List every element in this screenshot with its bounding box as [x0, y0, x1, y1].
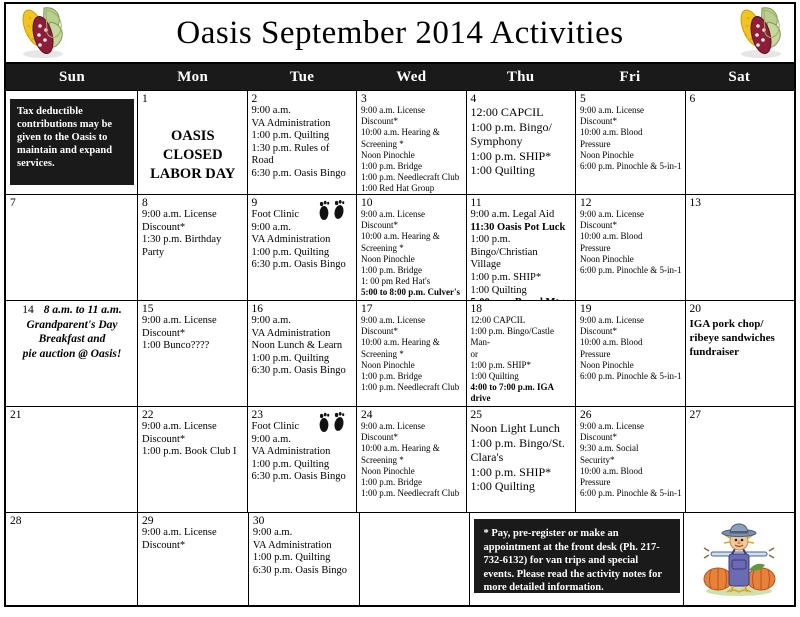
day-cell-11[interactable]: 11 9:00 a.m. Legal Aid11:30 Oasis Pot Lu…	[467, 195, 577, 300]
day-number: 7	[10, 197, 134, 209]
day-cell-17[interactable]: 17 9:00 a.m. License Discount*10:00 a.m.…	[357, 301, 467, 406]
day-number: 3	[361, 93, 463, 105]
day-cell-29[interactable]: 29 9:00 a.m. License Discount*	[138, 513, 249, 605]
event-list: 9:00 a.m. LicenseDiscount*9:30 a.m. Soci…	[580, 421, 682, 499]
day-number: 24	[361, 409, 463, 421]
event-list: 9:00 a.m. License Discount*10:00 a.m. Bl…	[580, 315, 682, 382]
page-title: Oasis September 2014 Activities	[176, 15, 623, 52]
day-cell-21[interactable]: 21	[6, 407, 138, 512]
day-number: 2	[252, 93, 354, 105]
event-list: 9:00 a.m. License Discount*1:30 p.m. Bir…	[142, 209, 244, 259]
day-cell-6[interactable]: 6	[686, 91, 795, 194]
event-list: 12:00 CAPCIL1:00 p.m. Bingo/Symphony1:00…	[471, 105, 573, 178]
weekday-wed: Wed	[357, 69, 466, 86]
day-cell-14[interactable]: 148 a.m. to 11 a.m.Grandparent's DayBrea…	[6, 301, 138, 406]
day-number: 28	[10, 515, 134, 527]
event-list: 9:00 a.m. License Discount*10:00 a.m. He…	[361, 421, 463, 499]
day-cell-25[interactable]: 25 Noon Light Lunch1:00 p.m. Bingo/St.Cl…	[467, 407, 577, 512]
calendar-week-row: 148 a.m. to 11 a.m.Grandparent's DayBrea…	[6, 301, 794, 407]
corn-cob-icon	[728, 2, 790, 62]
footer-note: * Pay, pre-register or make an appointme…	[474, 519, 680, 593]
day-number: 12	[580, 197, 682, 209]
day-cell-3[interactable]: 3 9:00 a.m. License Discount*10:00 a.m. …	[357, 91, 467, 194]
donation-notice: Tax deductible contributions may be give…	[10, 99, 134, 185]
corn-cob-icon	[10, 2, 72, 62]
scarecrow-cell	[684, 513, 794, 605]
footprints-icon	[316, 199, 350, 223]
weekday-mon: Mon	[138, 69, 247, 86]
day-number: 5	[580, 93, 682, 105]
event-list: 9:00 a.m. LicenseDiscount*10:00 a.m. Blo…	[580, 209, 682, 276]
footprints-icon	[316, 411, 350, 435]
day-cell-8[interactable]: 8 9:00 a.m. License Discount*1:30 p.m. B…	[138, 195, 248, 300]
day-cell-19[interactable]: 19 9:00 a.m. License Discount*10:00 a.m.…	[576, 301, 686, 406]
event-list: 12:00 CAPCIL1:00 p.m. Bingo/Castle Man-o…	[471, 315, 573, 406]
day-cell-notice: Tax deductible contributions may be give…	[6, 91, 138, 194]
day-cell-7[interactable]: 7	[6, 195, 138, 300]
weekday-sun: Sun	[6, 69, 138, 86]
event-list: 9:00 a.m.VA Administration1:00 p.m. Quil…	[252, 105, 354, 181]
day-number: 16	[252, 303, 354, 315]
day-number: 20	[690, 303, 792, 315]
day-number: 11	[471, 197, 573, 209]
day-number: 1	[142, 93, 244, 105]
day-number: 18	[471, 303, 573, 315]
day-cell-30[interactable]: 30 9:00 a.m.VA Administration1:00 p.m. Q…	[249, 513, 360, 605]
day-cell-2[interactable]: 2 9:00 a.m.VA Administration1:00 p.m. Qu…	[248, 91, 358, 194]
day-cell-15[interactable]: 15 9:00 a.m. LicenseDiscount*1:00 Bunco?…	[138, 301, 248, 406]
day-cell-28[interactable]: 28	[6, 513, 138, 605]
day-cell-empty-wed	[360, 513, 471, 605]
calendar-grid: Tax deductible contributions may be give…	[4, 90, 796, 607]
calendar-week-row: 7 8 9:00 a.m. License Discount*1:30 p.m.…	[6, 195, 794, 301]
event-list: 9:00 a.m. License Discount*	[142, 527, 245, 552]
day-number: 10	[361, 197, 463, 209]
day-cell-4[interactable]: 4 12:00 CAPCIL1:00 p.m. Bingo/Symphony1:…	[467, 91, 577, 194]
weekday-sat: Sat	[685, 69, 794, 86]
day-number: 13	[690, 197, 792, 209]
day-number: 29	[142, 515, 245, 527]
day-number: 17	[361, 303, 463, 315]
event-list: 9:00 a.m. License Discount*10:00 a.m. He…	[361, 209, 463, 300]
weekday-thu: Thu	[466, 69, 575, 86]
day-cell-22[interactable]: 22 9:00 a.m. License Discount*1:00 p.m. …	[138, 407, 248, 512]
day-cell-5[interactable]: 5 9:00 a.m. License Discount*10:00 a.m. …	[576, 91, 686, 194]
day-number: 27	[690, 409, 792, 421]
scarecrow-pumpkins-icon	[699, 520, 779, 598]
day-cell-16[interactable]: 16 9:00 a.m.VA AdministrationNoon Lunch …	[248, 301, 358, 406]
calendar-week-row: 21 22 9:00 a.m. License Discount*1:00 p.…	[6, 407, 794, 513]
day-number: 15	[142, 303, 244, 315]
day-banner: OASIS CLOSEDLABOR DAY	[142, 127, 244, 184]
day-cell-12[interactable]: 12 9:00 a.m. LicenseDiscount*10:00 a.m. …	[576, 195, 686, 300]
day-cell-10[interactable]: 10 9:00 a.m. License Discount*10:00 a.m.…	[357, 195, 467, 300]
calendar-page: Oasis September 2014 Activities	[0, 2, 800, 617]
day-cell-18[interactable]: 18 12:00 CAPCIL1:00 p.m. Bingo/Castle Ma…	[467, 301, 577, 406]
day-number: 22	[142, 409, 244, 421]
day-number: 6	[690, 93, 792, 105]
day-number: 19	[580, 303, 682, 315]
day-banner: IGA pork chop/ribeye sandwichesfundraise…	[690, 317, 792, 359]
calendar-week-row: 28 29 9:00 a.m. License Discount* 30 9:0…	[6, 513, 794, 605]
event-list: 9:00 a.m. License Discount*10:00 a.m. He…	[361, 315, 463, 393]
event-list: 9:00 a.m.VA AdministrationNoon Lunch & L…	[252, 315, 354, 378]
calendar-week-row: Tax deductible contributions may be give…	[6, 91, 794, 195]
day-number: 25	[471, 409, 573, 421]
day-number: 8	[142, 197, 244, 209]
day-cell-26[interactable]: 26 9:00 a.m. LicenseDiscount*9:30 a.m. S…	[576, 407, 686, 512]
day-cell-27[interactable]: 27	[686, 407, 795, 512]
event-list: 9:00 a.m. License Discount*10:00 a.m. He…	[361, 105, 463, 194]
day-cell-23[interactable]: 23 Foot Clinic9:00 a.m.VA Administration…	[248, 407, 358, 512]
day-cell-9[interactable]: 9 Foot Clinic9:00 a.m.VA Administration1…	[248, 195, 358, 300]
day-cell-24[interactable]: 24 9:00 a.m. License Discount*10:00 a.m.…	[357, 407, 467, 512]
day-number: 14	[22, 304, 34, 316]
weekday-tue: Tue	[247, 69, 356, 86]
day-number: 26	[580, 409, 682, 421]
calendar-title-bar: Oasis September 2014 Activities	[4, 2, 796, 62]
event-list: 9:00 a.m. Legal Aid11:30 Oasis Pot Luck1…	[471, 209, 573, 300]
event-list: 9:00 a.m. License Discount*10:00 a.m. Bl…	[580, 105, 682, 172]
event-list: 9:00 a.m. LicenseDiscount*1:00 Bunco????	[142, 315, 244, 353]
event-list: 9:00 a.m. License Discount*1:00 p.m. Boo…	[142, 421, 244, 459]
day-number: 30	[253, 515, 356, 527]
day-cell-1[interactable]: 1 OASIS CLOSEDLABOR DAY	[138, 91, 248, 194]
day-number: 21	[10, 409, 134, 421]
day-cell-20[interactable]: 20 IGA pork chop/ribeye sandwichesfundra…	[686, 301, 795, 406]
day-number: 4	[471, 93, 573, 105]
event-list: Noon Light Lunch1:00 p.m. Bingo/St.Clara…	[471, 421, 573, 494]
day-cell-13[interactable]: 13	[686, 195, 795, 300]
footer-note-cell: * Pay, pre-register or make an appointme…	[470, 513, 684, 605]
weekday-header-row: Sun Mon Tue Wed Thu Fri Sat	[4, 62, 796, 90]
day-banner: 148 a.m. to 11 a.m.Grandparent's DayBrea…	[10, 303, 134, 361]
weekday-fri: Fri	[575, 69, 684, 86]
event-list: 9:00 a.m.VA Administration1:00 p.m. Quil…	[253, 527, 356, 577]
